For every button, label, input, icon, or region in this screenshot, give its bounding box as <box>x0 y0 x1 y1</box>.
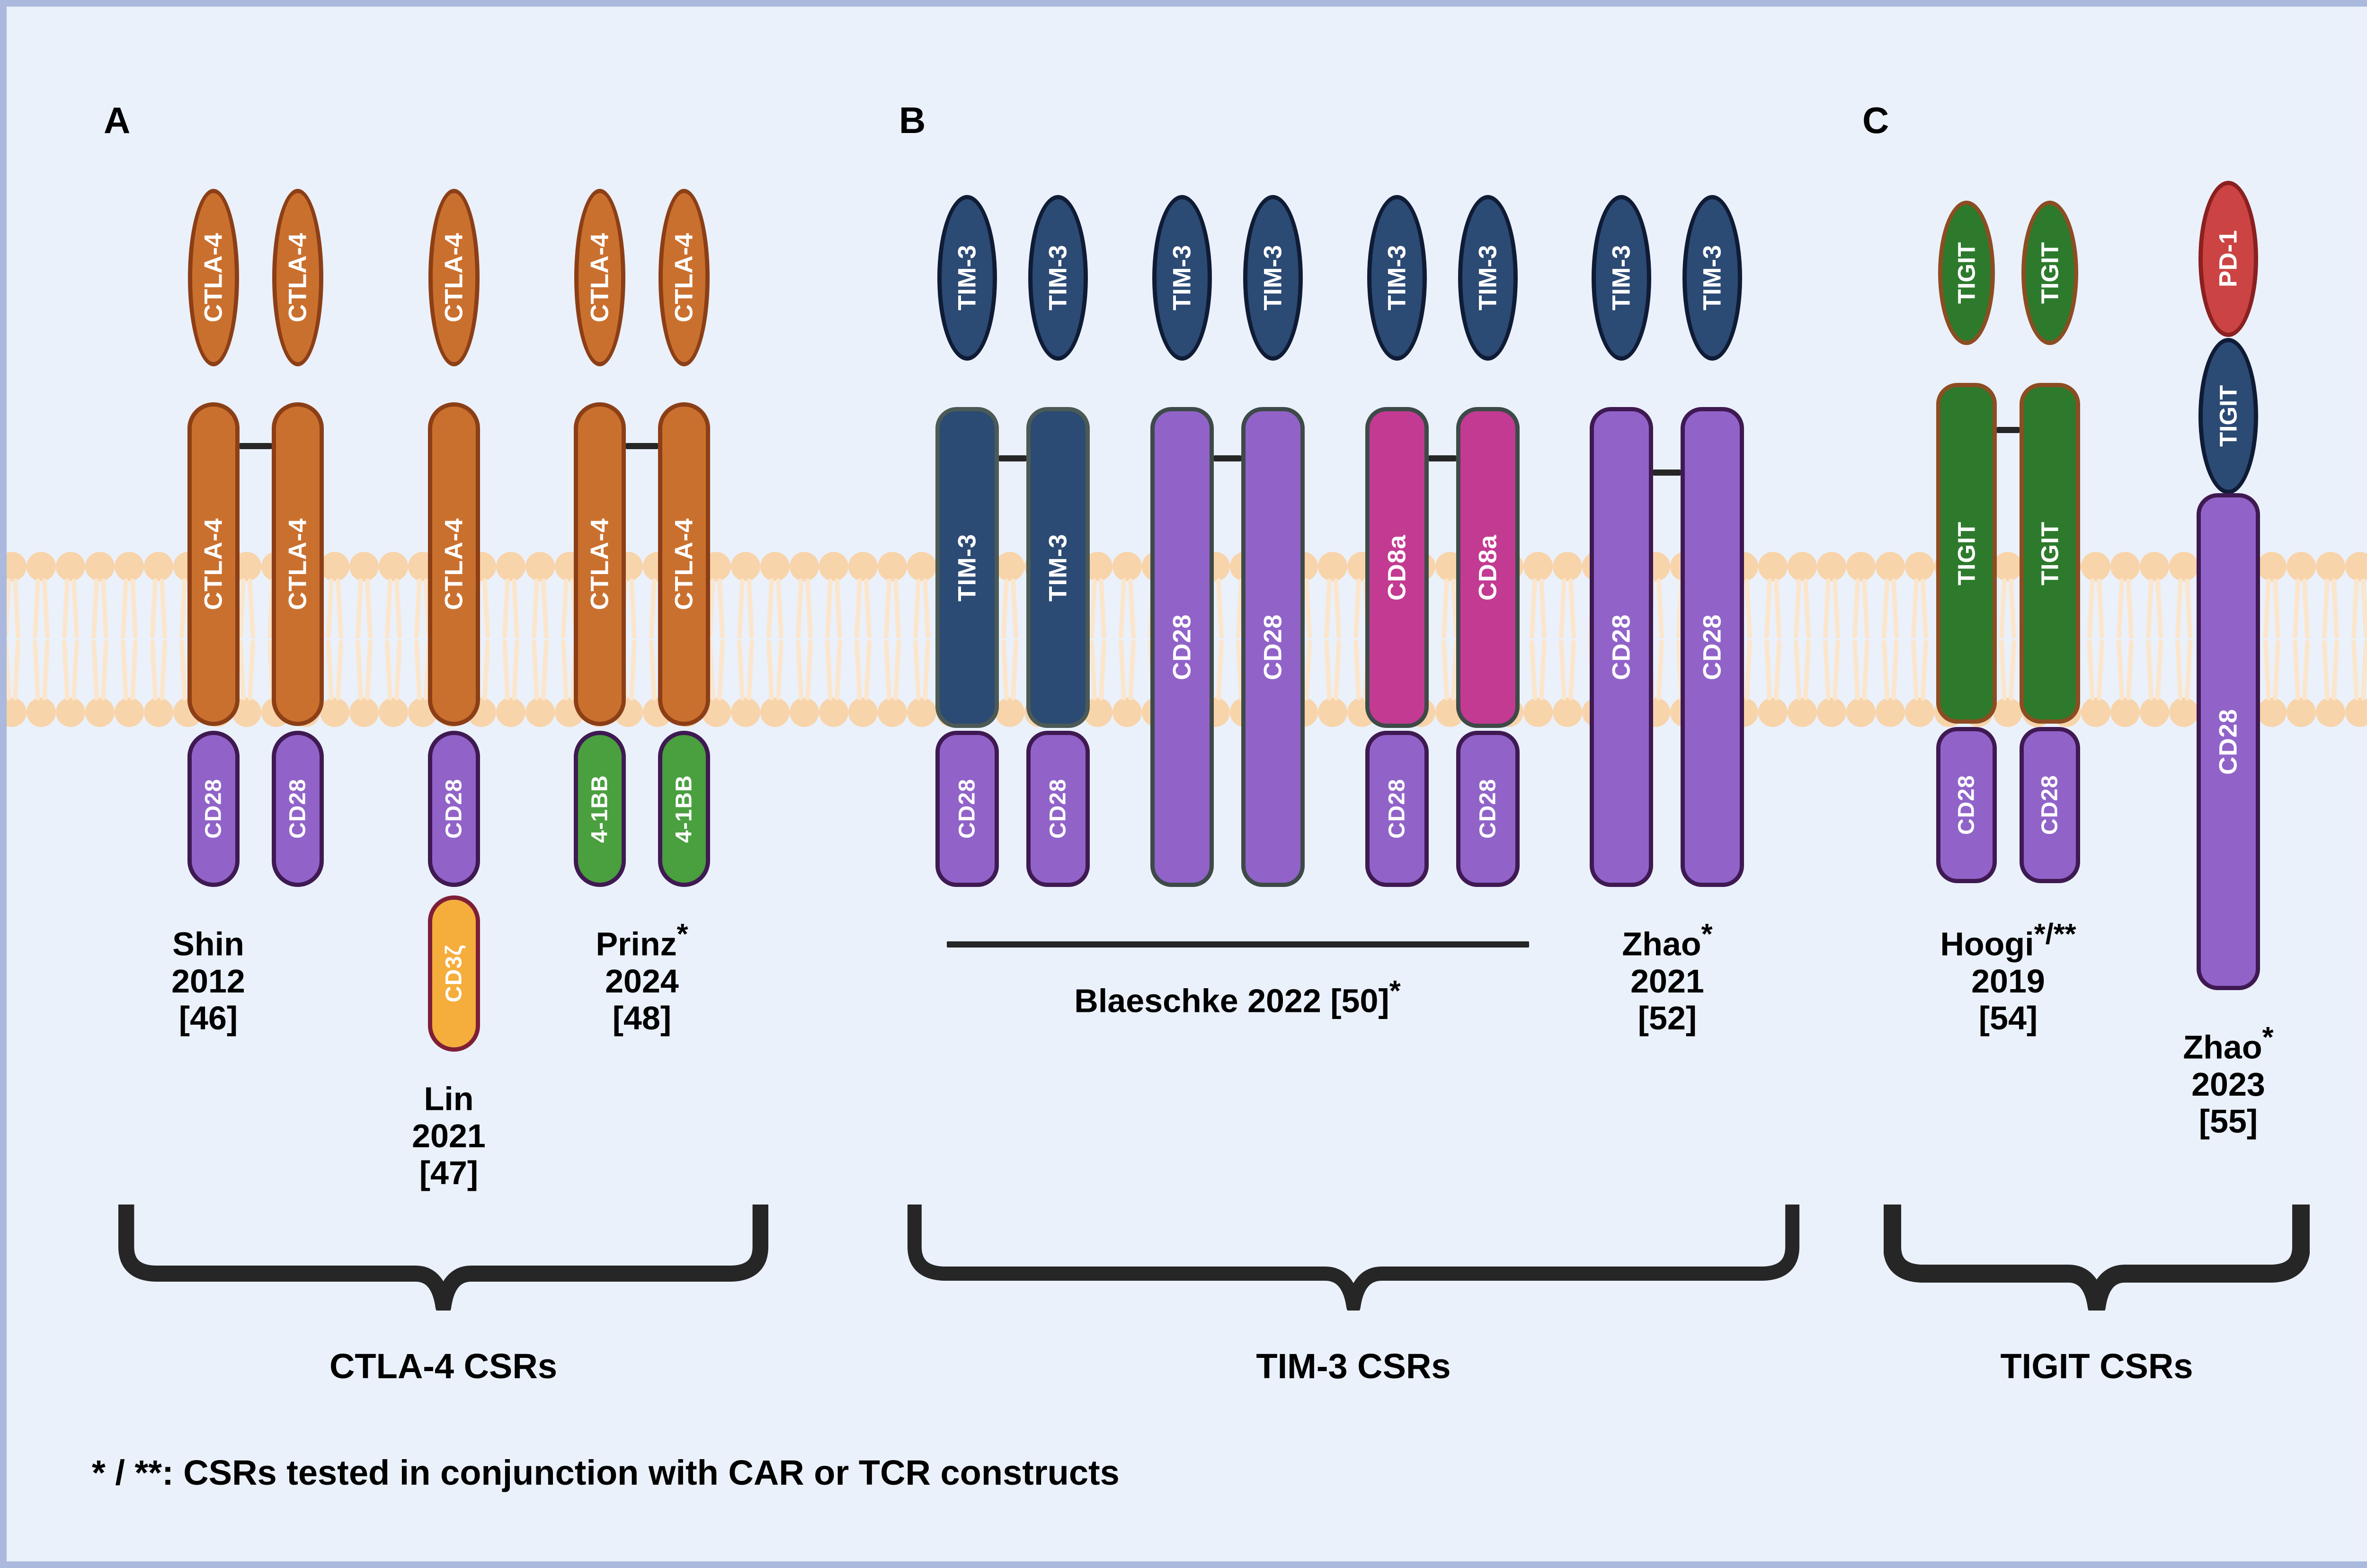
domain-tigit-stalk: TIGIT <box>2020 383 2080 724</box>
phospholipid-head-icon <box>1788 552 1817 581</box>
domain-cd28: CD28 <box>2020 727 2080 883</box>
phospholipid-icon <box>144 639 173 727</box>
phospholipid-icon <box>379 552 408 639</box>
phospholipid-tail <box>101 640 109 700</box>
phospholipid-tail <box>394 578 402 639</box>
domain-tim3-head: TIM-3 <box>1152 195 1212 361</box>
phospholipid-icon <box>2169 639 2198 727</box>
phospholipid-tail <box>1882 578 1890 639</box>
phospholipid-tail <box>1862 640 1870 700</box>
domain-cd28: CD28 <box>1590 407 1653 887</box>
phospholipid-icon <box>1817 639 1846 727</box>
phospholipid-icon <box>2257 552 2287 639</box>
domain-tim3-head: TIM-3 <box>1458 195 1518 361</box>
domain-ctla4-head: CTLA-4 <box>574 189 625 366</box>
phospholipid-head-icon <box>1846 552 1876 581</box>
domain-cd28: CD28 <box>1681 407 1744 887</box>
panel-letter-b: B <box>899 99 925 142</box>
phospholipid-tail <box>1882 640 1890 700</box>
ref-marks: */** <box>2034 918 2076 950</box>
phospholipid-head-icon <box>1846 698 1876 727</box>
phospholipid-tail <box>336 640 344 700</box>
phospholipid-tail <box>179 640 187 700</box>
phospholipid-head-icon <box>1905 698 1934 727</box>
domain-cd28: CD28 <box>1936 727 1997 883</box>
phospholipid-tail <box>1559 578 1567 639</box>
phospholipid-tail <box>2331 640 2340 700</box>
phospholipid-icon <box>790 552 819 639</box>
phospholipid-tail <box>1530 640 1538 700</box>
phospholipid-head-icon <box>790 698 819 727</box>
phospholipid-tail <box>2117 578 2125 639</box>
domain-cd28: CD28 <box>2197 493 2260 990</box>
phospholipid-icon <box>1523 552 1553 639</box>
ref-marks: * <box>1701 918 1713 950</box>
phospholipid-tail <box>1442 640 1450 700</box>
phospholipid-icon <box>2316 639 2345 727</box>
dimer-connector <box>626 443 658 449</box>
phospholipid-tail <box>160 640 168 700</box>
blaeschke-group-bar <box>947 941 1529 948</box>
phospholipid-tail <box>326 578 334 639</box>
domain-cd28: CD28 <box>1241 407 1305 887</box>
phospholipid-tail <box>2322 640 2330 700</box>
phospholipid-tail <box>2263 640 2271 700</box>
phospholipid-icon <box>7 552 27 639</box>
phospholipid-tail <box>854 640 863 700</box>
phospholipid-tail <box>42 640 50 700</box>
domain-cd28: CD28 <box>935 731 999 887</box>
phospholipid-tail <box>248 640 256 700</box>
phospholipid-tail <box>2302 640 2310 700</box>
phospholipid-icon <box>2169 552 2198 639</box>
phospholipid-head-icon <box>790 552 819 581</box>
phospholipid-tail <box>512 640 520 700</box>
ref-name: Zhao <box>1622 925 1701 962</box>
phospholipid-tail <box>629 578 637 639</box>
phospholipid-head-icon <box>2316 552 2345 581</box>
phospholipid-tail <box>629 640 637 700</box>
phospholipid-tail <box>7 640 11 700</box>
phospholipid-tail <box>532 578 540 639</box>
phospholipid-icon <box>848 552 878 639</box>
phospholipid-tail <box>1999 578 2007 639</box>
phospholipid-head-icon <box>1993 698 2022 727</box>
phospholipid-icon <box>1905 639 1934 727</box>
phospholipid-head-icon <box>7 698 27 727</box>
phospholipid-tail <box>1921 640 1929 700</box>
phospholipid-tail <box>2185 640 2193 700</box>
phospholipid-head-icon <box>995 552 1024 581</box>
phospholipid-tail <box>2175 640 2183 700</box>
domain-ctla4-stalk: CTLA-4 <box>272 402 324 726</box>
phospholipid-tail <box>893 640 901 700</box>
phospholipid-tail <box>766 640 774 700</box>
domain-tim3-head: TIM-3 <box>1682 195 1742 361</box>
phospholipid-icon <box>379 639 408 727</box>
phospholipid-head-icon <box>2345 698 2367 727</box>
phospholipid-tail <box>1442 578 1450 639</box>
phospholipid-head-icon <box>349 552 379 581</box>
phospholipid-tail <box>2175 578 2183 639</box>
group-title-tim3: TIM-3 CSRs <box>906 1346 1801 1386</box>
phospholipid-icon <box>1846 552 1876 639</box>
phospholipid-tail <box>2331 578 2340 639</box>
phospholipid-tail <box>2322 578 2330 639</box>
dimer-connector <box>1429 455 1456 461</box>
phospholipid-icon <box>1758 552 1788 639</box>
phospholipid-head-icon <box>1993 552 2022 581</box>
phospholipid-tail <box>1011 640 1019 700</box>
phospholipid-icon <box>731 552 760 639</box>
phospholipid-head-icon <box>349 698 379 727</box>
phospholipid-tail <box>1794 578 1802 639</box>
group-title-ctla4: CTLA-4 CSRs <box>118 1346 769 1386</box>
ref-year: 2024 <box>571 963 713 1000</box>
phospholipid-head-icon <box>731 698 760 727</box>
panel-letter-c: C <box>1862 99 1889 142</box>
phospholipid-icon <box>2287 552 2316 639</box>
phospholipid-tail <box>532 640 540 700</box>
phospholipid-tail <box>796 640 804 700</box>
ref-year: 2021 <box>1596 963 1738 1000</box>
phospholipid-icon <box>115 639 144 727</box>
phospholipid-tail <box>747 640 755 700</box>
domain-tim3-head: TIM-3 <box>1243 195 1303 361</box>
phospholipid-head-icon <box>1112 698 1142 727</box>
phospholipid-icon <box>1318 552 1347 639</box>
phospholipid-icon <box>496 639 525 727</box>
phospholipid-tail <box>150 640 158 700</box>
phospholipid-head-icon <box>878 698 907 727</box>
phospholipid-head-icon <box>760 552 790 581</box>
reference-label-prinz: Prinz* 2024 [48] <box>571 918 713 1037</box>
phospholipid-tail <box>1911 578 1919 639</box>
phospholipid-tail <box>1304 640 1312 700</box>
group-brace-c <box>1884 1202 2310 1311</box>
phospholipid-tail <box>893 578 901 639</box>
phospholipid-head-icon <box>1758 552 1788 581</box>
phospholipid-icon <box>760 639 790 727</box>
phospholipid-tail <box>1823 640 1831 700</box>
phospholipid-head-icon <box>878 552 907 581</box>
phospholipid-tail <box>1324 640 1332 700</box>
phospholipid-tail <box>2146 640 2154 700</box>
phospholipid-tail <box>747 578 755 639</box>
phospholipid-icon <box>1112 639 1142 727</box>
phospholipid-tail <box>2293 640 2301 700</box>
phospholipid-icon <box>1788 552 1817 639</box>
phospholipid-tail <box>1833 578 1841 639</box>
phospholipid-tail <box>1803 640 1811 700</box>
phospholipid-tail <box>2302 578 2310 639</box>
phospholipid-icon <box>27 639 56 727</box>
phospholipid-head-icon <box>2081 552 2110 581</box>
phospholipid-tail <box>737 640 745 700</box>
reference-label-shin: Shin 2012 [46] <box>137 918 279 1037</box>
phospholipid-tail <box>884 578 892 639</box>
phospholipid-tail <box>414 578 422 639</box>
dimer-connector <box>240 443 272 449</box>
phospholipid-icon <box>2345 639 2367 727</box>
phospholipid-tail <box>482 578 490 639</box>
domain-tigit-stalk: TIGIT <box>1936 383 1997 724</box>
domain-cd8a: CD8a <box>1365 407 1429 728</box>
domain-cd3zeta: CD3ζ <box>428 895 480 1052</box>
phospholipid-tail <box>561 640 569 700</box>
figure-footnote: * / **: CSRs tested in conjunction with … <box>92 1453 1120 1493</box>
phospholipid-tail <box>2185 578 2193 639</box>
phospholipid-tail <box>1304 578 1312 639</box>
phospholipid-head-icon <box>1553 552 1582 581</box>
reference-label-zhao2021: Zhao* 2021 [52] <box>1596 918 1738 1037</box>
domain-cd28: CD28 <box>187 731 240 887</box>
phospholipid-tail <box>2087 640 2095 700</box>
domain-4-1bb: 4-1BB <box>574 731 626 887</box>
phospholipid-tail <box>717 640 725 700</box>
phospholipid-tail <box>1334 640 1342 700</box>
phospholipid-tail <box>1921 578 1929 639</box>
phospholipid-head-icon <box>27 698 56 727</box>
domain-tim3-head: TIM-3 <box>1592 195 1651 361</box>
phospholipid-head-icon <box>56 698 85 727</box>
domain-cd28: CD28 <box>428 731 480 887</box>
phospholipid-icon <box>1993 639 2022 727</box>
domain-tigit-head: TIGIT <box>2198 338 2258 494</box>
phospholipid-tail <box>1353 640 1361 700</box>
phospholipid-tail <box>825 578 833 639</box>
phospholipid-tail <box>91 640 99 700</box>
phospholipid-tail <box>2263 578 2271 639</box>
phospholipid-tail <box>33 578 41 639</box>
group-brace-b <box>906 1202 1801 1311</box>
phospholipid-tail <box>913 578 921 639</box>
phospholipid-head-icon <box>1876 698 1905 727</box>
phospholipid-tail <box>1891 640 1899 700</box>
reference-label-blaeschke: Blaeschke 2022 [50]* <box>934 974 1540 1019</box>
phospholipid-icon <box>85 639 115 727</box>
phospholipid-head-icon <box>2345 552 2367 581</box>
phospholipid-tail <box>1324 578 1332 639</box>
phospholipid-icon <box>907 639 936 727</box>
phospholipid-tail <box>1862 578 1870 639</box>
phospholipid-head-icon <box>85 698 115 727</box>
phospholipid-tail <box>394 640 402 700</box>
phospholipid-head-icon <box>1523 698 1553 727</box>
phospholipid-tail <box>2117 640 2125 700</box>
phospholipid-tail <box>1128 578 1136 639</box>
dimer-connector <box>1214 455 1241 461</box>
phospholipid-tail <box>776 640 784 700</box>
phospholipid-tail <box>2009 640 2017 700</box>
phospholipid-icon <box>56 639 85 727</box>
phospholipid-tail <box>336 578 344 639</box>
phospholipid-icon <box>2287 639 2316 727</box>
domain-tigit-head: TIGIT <box>1938 201 1995 345</box>
phospholipid-tail <box>2146 578 2154 639</box>
domain-tigit-head: TIGIT <box>2021 201 2078 345</box>
domain-tim3-head: TIM-3 <box>1367 195 1427 361</box>
domain-ctla4-stalk: CTLA-4 <box>428 402 480 726</box>
dimer-connector <box>1653 470 1681 476</box>
phospholipid-tail <box>649 578 657 639</box>
phospholipid-tail <box>1568 640 1576 700</box>
phospholipid-head-icon <box>144 552 173 581</box>
domain-ctla4-head: CTLA-4 <box>188 189 239 366</box>
phospholipid-tail <box>2097 578 2105 639</box>
phospholipid-icon <box>2316 552 2345 639</box>
phospholipid-tail <box>923 578 931 639</box>
phospholipid-tail <box>1744 578 1753 639</box>
phospholipid-icon <box>525 552 555 639</box>
ref-marks: * <box>677 918 688 950</box>
phospholipid-head-icon <box>115 552 144 581</box>
phospholipid-icon <box>1112 552 1142 639</box>
phospholipid-tail <box>1764 640 1772 700</box>
phospholipid-tail <box>1833 640 1841 700</box>
phospholipid-icon <box>2081 552 2110 639</box>
figure-canvas: A B C CTLA-4 CTLA-4 CD28 CTLA-4 CTLA-4 C… <box>0 0 2367 1568</box>
phospholipid-icon <box>2257 639 2287 727</box>
phospholipid-tail <box>2293 578 2301 639</box>
ref-marks: * <box>1389 974 1401 1007</box>
phospholipid-tail <box>2126 640 2134 700</box>
ref-number: [48] <box>571 1000 713 1036</box>
phospholipid-tail <box>365 578 373 639</box>
phospholipid-tail <box>326 640 334 700</box>
phospholipid-tail <box>1001 578 1009 639</box>
phospholipid-tail <box>776 578 784 639</box>
phospholipid-tail <box>130 640 138 700</box>
phospholipid-icon <box>85 552 115 639</box>
phospholipid-tail <box>1099 640 1107 700</box>
phospholipid-tail <box>805 640 813 700</box>
phospholipid-head-icon <box>1817 552 1846 581</box>
domain-tim3-tm: TIM-3 <box>1026 407 1090 728</box>
phospholipid-icon <box>1876 552 1905 639</box>
phospholipid-tail <box>805 578 813 639</box>
phospholipid-tail <box>2155 578 2163 639</box>
phospholipid-icon <box>56 552 85 639</box>
phospholipid-head-icon <box>496 698 525 727</box>
phospholipid-icon <box>848 639 878 727</box>
phospholipid-icon <box>1788 639 1817 727</box>
phospholipid-tail <box>1999 640 2007 700</box>
phospholipid-icon <box>320 639 349 727</box>
dimer-connector <box>999 455 1026 461</box>
phospholipid-head-icon <box>85 552 115 581</box>
phospholipid-head-icon <box>819 552 848 581</box>
phospholipid-icon <box>995 639 1024 727</box>
phospholipid-head-icon <box>1758 698 1788 727</box>
phospholipid-tail <box>541 578 549 639</box>
phospholipid-icon <box>907 552 936 639</box>
phospholipid-head-icon <box>1318 552 1347 581</box>
phospholipid-head-icon <box>819 698 848 727</box>
phospholipid-head-icon <box>1112 552 1142 581</box>
phospholipid-tail <box>766 578 774 639</box>
domain-pd1-head: PD-1 <box>2198 181 2258 337</box>
phospholipid-head-icon <box>379 698 408 727</box>
domain-cd28: CD28 <box>1365 731 1429 887</box>
phospholipid-tail <box>121 578 129 639</box>
phospholipid-tail <box>561 578 569 639</box>
domain-ctla4-head: CTLA-4 <box>272 189 323 366</box>
phospholipid-head-icon <box>2257 552 2287 581</box>
phospholipid-head-icon <box>2140 552 2169 581</box>
phospholipid-head-icon <box>379 552 408 581</box>
phospholipid-tail <box>825 640 833 700</box>
phospholipid-icon <box>2140 552 2169 639</box>
phospholipid-tail <box>248 578 256 639</box>
domain-cd28: CD28 <box>1456 731 1520 887</box>
phospholipid-tail <box>1774 578 1782 639</box>
phospholipid-icon <box>1758 639 1788 727</box>
phospholipid-tail <box>1774 640 1782 700</box>
phospholipid-tail <box>482 640 490 700</box>
phospholipid-head-icon <box>525 552 555 581</box>
phospholipid-head-icon <box>27 552 56 581</box>
phospholipid-head-icon <box>7 552 27 581</box>
phospholipid-icon <box>1846 639 1876 727</box>
ref-name: Lin <box>424 1080 474 1117</box>
phospholipid-head-icon <box>1523 552 1553 581</box>
phospholipid-head-icon <box>1788 698 1817 727</box>
domain-ctla4-head: CTLA-4 <box>658 189 710 366</box>
phospholipid-tail <box>160 578 168 639</box>
phospholipid-tail <box>649 640 657 700</box>
phospholipid-icon <box>1523 639 1553 727</box>
phospholipid-head-icon <box>144 698 173 727</box>
group-brace-a <box>118 1202 769 1311</box>
phospholipid-head-icon <box>2287 698 2316 727</box>
phospholipid-head-icon <box>731 552 760 581</box>
phospholipid-head-icon <box>496 552 525 581</box>
phospholipid-tail <box>1128 640 1136 700</box>
phospholipid-tail <box>1539 578 1547 639</box>
phospholipid-tail <box>179 578 187 639</box>
phospholipid-tail <box>717 578 725 639</box>
phospholipid-tail <box>1656 578 1664 639</box>
phospholipid-tail <box>2273 578 2281 639</box>
phospholipid-tail <box>1089 640 1097 700</box>
phospholipid-tail <box>130 578 138 639</box>
phospholipid-tail <box>1099 578 1107 639</box>
phospholipid-head-icon <box>320 698 349 727</box>
phospholipid-head-icon <box>525 698 555 727</box>
phospholipid-tail <box>1334 578 1342 639</box>
phospholipid-icon <box>349 639 379 727</box>
phospholipid-tail <box>1568 578 1576 639</box>
phospholipid-tail <box>2361 640 2367 700</box>
ref-name: Hoogi <box>1940 925 2034 962</box>
ref-name: Shin <box>172 925 244 962</box>
phospholipid-tail <box>1559 640 1567 700</box>
domain-4-1bb: 4-1BB <box>658 731 710 887</box>
phospholipid-tail <box>835 640 843 700</box>
phospholipid-tail <box>1794 640 1802 700</box>
phospholipid-head-icon <box>2110 698 2140 727</box>
phospholipid-tail <box>71 578 80 639</box>
phospholipid-head-icon <box>320 552 349 581</box>
phospholipid-icon <box>2081 639 2110 727</box>
domain-ctla4-head: CTLA-4 <box>428 189 480 366</box>
ref-number: [46] <box>137 1000 279 1036</box>
phospholipid-head-icon <box>2081 698 2110 727</box>
domain-cd8a: CD8a <box>1456 407 1520 728</box>
phospholipid-tail <box>7 578 11 639</box>
phospholipid-icon <box>995 552 1024 639</box>
